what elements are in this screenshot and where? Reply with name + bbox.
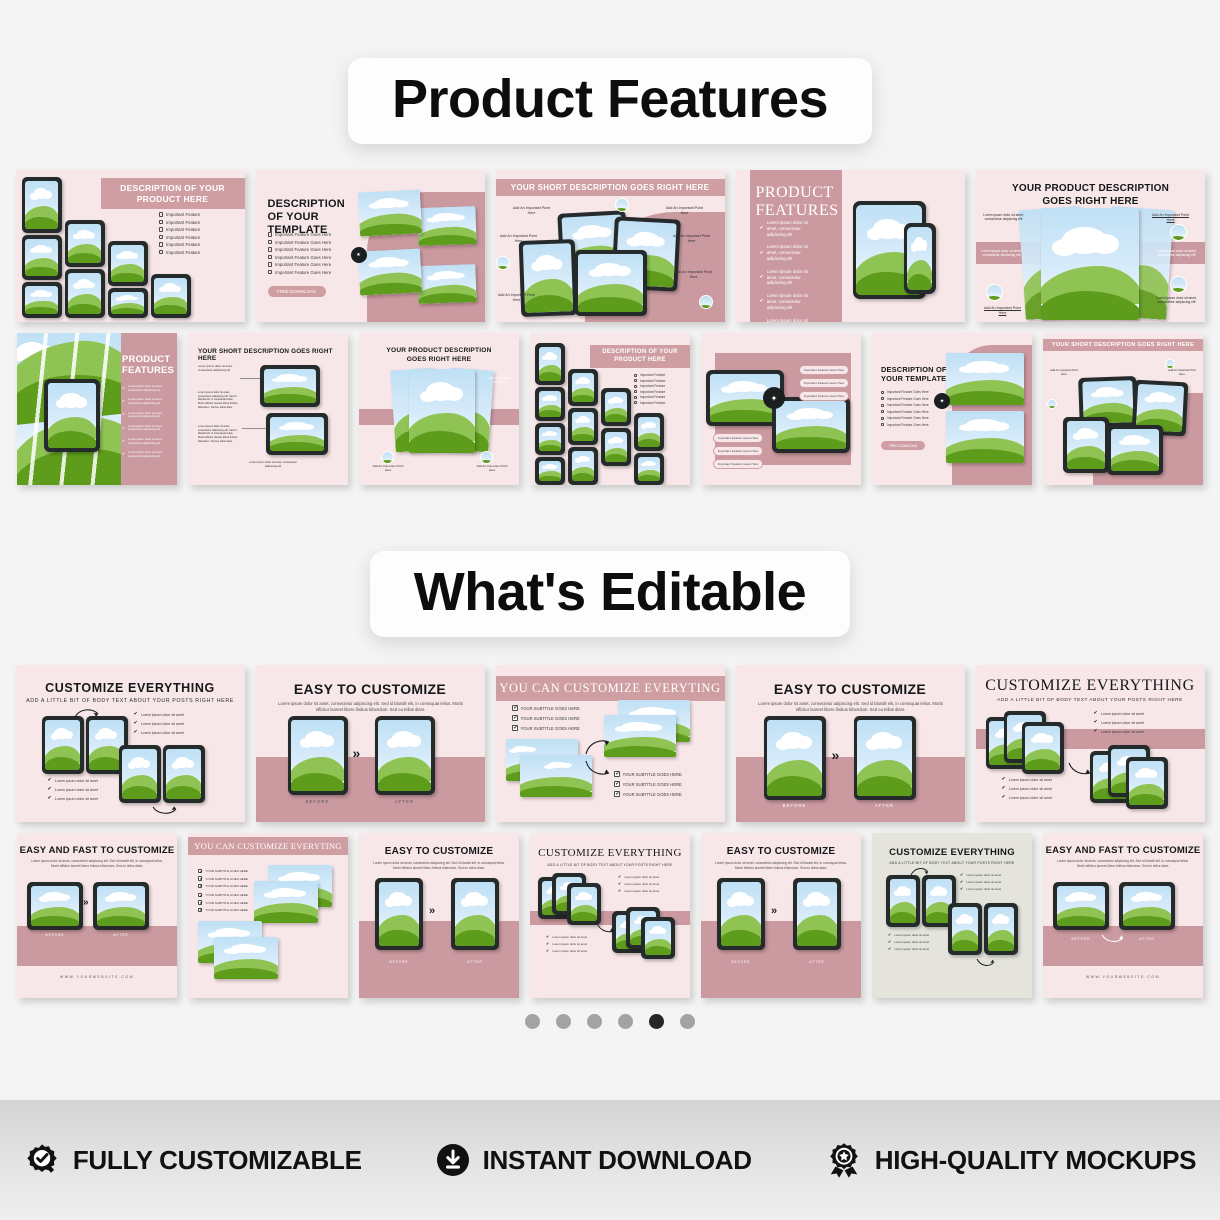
list-item: ✔Lorem ipsum dolor sit amet — [546, 935, 587, 939]
checkbox-icon — [881, 397, 884, 400]
slide-thumbnail[interactable]: EASY AND FAST TO CUSTOMIZE Lorem ipsum d… — [17, 833, 177, 998]
list-item: Important Feature — [634, 379, 665, 383]
before-label: BEFORE — [375, 960, 423, 964]
checkbox-checked-icon: ✔ — [198, 869, 202, 873]
checkbox-icon — [634, 385, 637, 388]
callout-label: Lorem ipsum dolor sit amet, consectetur … — [982, 213, 1026, 222]
list-item: ✔Lorem ipsum dolor sit amet — [1002, 795, 1053, 800]
list-item: ✔YOUR SUBTITLE GOES HERE — [198, 893, 248, 897]
check-icon: ✔ — [122, 400, 125, 403]
list-item: ✔Lorem ipsum dolor sit amet — [888, 940, 929, 944]
curved-arrow-icon — [976, 957, 996, 968]
list-item: ✔Lorem ipsum dolor sit amet, consectetur… — [760, 244, 817, 261]
pagination-dot-1[interactable] — [525, 1014, 540, 1029]
slide-thumbnail[interactable]: YOU CAN CUSTOMIZE EVERYTING ✔YOUR SUBTIT… — [188, 833, 348, 998]
section-title-whats-editable-wrap: What's Editable — [0, 533, 1220, 637]
check-icon: ✔ — [1094, 729, 1098, 734]
slide-heading: CUSTOMIZE EVERYTHING — [530, 847, 690, 859]
curved-arrow-icon — [910, 866, 930, 877]
check-icon: ✔ — [1002, 786, 1006, 791]
callout-label: Add An Important Point Here — [485, 377, 515, 385]
checkbox-icon — [268, 247, 273, 252]
callout-label: Lorem ipsum dolor sit amet, consectetur … — [1155, 296, 1199, 305]
list-item: ✔Lorem ipsum dolor sit amet — [960, 873, 1001, 877]
checkbox-icon — [159, 242, 164, 247]
list-item: Important Feature — [159, 250, 201, 255]
checkbox-checked-icon: ✔ — [512, 725, 518, 731]
after-label: AFTER — [451, 960, 499, 964]
callout-label: Add An Important Point Here — [498, 293, 536, 302]
before-label: BEFORE — [288, 799, 348, 804]
chevron-right-icon: » — [429, 905, 435, 917]
curved-arrow-icon — [596, 921, 616, 935]
check-icon: ✔ — [48, 796, 52, 801]
list-item: ✔Lorem ipsum dolor sit amet — [1002, 777, 1053, 782]
slide-thumbnail[interactable]: EASY TO CUSTOMIZE Lorem ipsum dolor sit … — [736, 665, 965, 822]
checkbox-icon — [268, 270, 273, 275]
slide-heading: EASY TO CUSTOMIZE — [359, 846, 519, 857]
thumbnail-bubble — [1170, 276, 1187, 293]
list-item: Important Feature — [634, 384, 665, 388]
slide-thumbnail[interactable]: YOUR SHORT DESCRIPTION GOES RIGHT HERE A… — [1043, 333, 1203, 485]
slide-heading: EASY AND FAST TO CUSTOMIZE — [1043, 845, 1203, 856]
list-item: ✔YOUR SUBTITLE GOES HERE — [614, 771, 682, 777]
list-item: ✔Lorem ipsum dolor sit amet, consectetur… — [760, 318, 817, 322]
thumbnail-bubble — [615, 198, 629, 212]
tag-pill: Important Feature Goes Here — [799, 365, 849, 375]
callout-label: Add An Important Point Here — [671, 234, 713, 243]
pagination-dots[interactable] — [0, 1014, 1220, 1029]
editable-row-2: EASY AND FAST TO CUSTOMIZE Lorem ipsum d… — [0, 833, 1220, 998]
chevron-right-icon: » — [771, 905, 777, 917]
callout-label: Add An Important Point Here — [663, 206, 707, 215]
list-item: ✔YOUR SUBTITLE GOES HERE — [512, 715, 580, 721]
slide-body-text: Lorem ipsum dolor sit amet, consectetur … — [274, 701, 468, 713]
callout-label: Add An Important Point Here — [510, 206, 554, 215]
list-item: Important Feature Goes Here — [268, 270, 332, 275]
list-item: Important Feature Goes Here — [881, 403, 929, 407]
slide-heading: YOUR SHORT DESCRIPTION GOES RIGHT HERE — [1043, 339, 1203, 351]
checkbox-checked-icon: ✔ — [198, 884, 202, 888]
check-icon: ✔ — [960, 887, 963, 891]
thumbnail-bubble — [381, 451, 394, 464]
slide-thumbnail[interactable]: CUSTOMIZE EVERYTHING ADD A LITTLE BIT OF… — [530, 833, 690, 998]
thumbnail-bubble — [1170, 224, 1187, 241]
callout-label: Lorem ipsum dolor sit amet, consectetur … — [980, 249, 1024, 258]
list-item: Important Feature Goes Here — [268, 240, 332, 245]
slide-heading: YOUR SHORT DESCRIPTION GOES RIGHT HERE — [496, 179, 725, 196]
slide-body-text: Lorem ipsum dolor sit amet, consectetur … — [31, 859, 163, 868]
website-label: WWW.YOURWEBSITE.COM — [1043, 975, 1203, 979]
slide-subheading: ADD A LITTLE BIT OF BODY TEXT ABOUT YOUR… — [872, 861, 1032, 865]
curved-arrow-icon — [1068, 761, 1092, 777]
checkbox-icon — [634, 374, 637, 377]
list-item: ✔Lorem ipsum dolor sit amet, consectetur… — [122, 425, 172, 432]
download-button[interactable]: FREE DOWNLOAD — [881, 441, 925, 450]
slide-body-text: Lorem ipsum dolor sit amet, consectetur … — [1057, 859, 1189, 868]
before-label: BEFORE — [717, 960, 765, 964]
slide-thumbnail[interactable]: CUSTOMIZE EVERYTHING ADD A LITTLE BIT OF… — [872, 833, 1032, 998]
checkbox-icon — [159, 235, 164, 240]
list-item: ✔Lorem ipsum dolor sit amet, consectetur… — [122, 451, 172, 458]
list-item: Important Feature — [634, 401, 665, 405]
slide-thumbnail[interactable]: CUSTOMIZE EVERYTHING ADD A LITTLE BIT OF… — [976, 665, 1205, 822]
check-icon: ✔ — [888, 947, 891, 951]
curved-arrow-icon — [585, 738, 611, 756]
slide-thumbnail[interactable]: EASY TO CUSTOMIZE Lorem ipsum dolor sit … — [256, 665, 485, 822]
checkbox-icon — [159, 212, 164, 217]
list-item: ✔Lorem ipsum dolor sit amet — [618, 882, 659, 886]
callout-label: Lorem ipsum dolor sit amet, consectetur … — [198, 425, 240, 443]
list-item: Important Feature — [634, 390, 665, 394]
check-icon: ✔ — [1094, 720, 1098, 725]
pagination-dot-3[interactable] — [587, 1014, 602, 1029]
list-item: ✔YOUR SUBTITLE GOES HERE — [198, 908, 248, 912]
list-item: ✔YOUR SUBTITLE GOES HERE — [614, 791, 682, 797]
list-item: Important Feature — [159, 227, 201, 232]
footer-label: FULLY CUSTOMIZABLE — [73, 1145, 362, 1176]
checkbox-checked-icon: ✔ — [198, 893, 202, 897]
callout-label: Add An Important Point Here — [498, 234, 540, 243]
list-item: ✔Lorem ipsum dolor sit amet, consectetur… — [122, 398, 172, 405]
list-item: ✔Lorem ipsum dolor sit amet — [134, 730, 185, 735]
list-item: ✔Lorem ipsum dolor sit amet, consectetur… — [760, 220, 817, 237]
tag-pill: Important Feature Goes Here — [713, 433, 763, 443]
footer-bar: FULLY CUSTOMIZABLE INSTANT DOWNLOAD HIGH… — [0, 1100, 1220, 1220]
check-icon: ✔ — [1002, 777, 1006, 782]
slide-thumbnail[interactable]: EASY AND FAST TO CUSTOMIZE Lorem ipsum d… — [1043, 833, 1203, 998]
list-item: ✔YOUR SUBTITLE GOES HERE — [512, 705, 580, 711]
list-item: ✔Lorem ipsum dolor sit amet — [1002, 786, 1053, 791]
curved-arrow-icon — [74, 707, 100, 719]
checkbox-checked-icon: ✔ — [512, 705, 518, 711]
curved-arrow-icon — [152, 805, 178, 817]
checkbox-icon — [268, 262, 273, 267]
tablet-mockup — [288, 716, 348, 795]
check-icon: ✔ — [122, 440, 125, 443]
list-item: Important Feature — [159, 220, 201, 225]
check-icon: ✔ — [134, 721, 138, 726]
slide-thumbnail[interactable]: YOUR PRODUCT DESCRIPTION GOES RIGHT HERE… — [359, 333, 519, 485]
slide-thumbnail[interactable]: Important Feature Goes Here Important Fe… — [701, 333, 861, 485]
checkbox-icon — [159, 250, 164, 255]
chevron-right-icon: » — [83, 897, 89, 908]
slide-thumbnail[interactable]: DESCRIPTION OF YOUR PRODUCT HERE Importa… — [16, 170, 245, 322]
list-item: ✔Lorem ipsum dolor sit amet — [960, 880, 1001, 884]
download-circle-icon — [436, 1143, 470, 1177]
list-item: Important Feature Goes Here — [268, 262, 332, 267]
list-item: ✔YOUR SUBTITLE GOES HERE — [614, 781, 682, 787]
slide-heading: DESCRIPTION OF YOUR PRODUCT HERE — [101, 178, 245, 209]
seal-badge-icon: ★ — [351, 247, 367, 263]
list-item: Important Feature — [634, 373, 665, 377]
check-icon: ✔ — [760, 299, 764, 304]
list-item: Important Feature Goes Here — [268, 232, 332, 237]
slide-thumbnail[interactable]: DESCRIPTION OF YOUR TEMPLATE Important F… — [256, 170, 485, 322]
check-icon: ✔ — [618, 875, 621, 879]
thumbnail-bubble — [986, 284, 1003, 301]
list-item: ✔YOUR SUBTITLE GOES HERE — [198, 884, 248, 888]
slide-heading: CUSTOMIZE EVERYTHING — [16, 681, 245, 695]
check-icon: ✔ — [48, 787, 52, 792]
footer-item-high-quality-mockups: HIGH-QUALITY MOCKUPS — [826, 1142, 1196, 1178]
check-icon: ✔ — [760, 251, 764, 256]
thumbnail-bubble — [1165, 359, 1175, 369]
slide-thumbnail[interactable]: CUSTOMIZE EVERYTHING ADD A LITTLE BIT OF… — [16, 665, 245, 822]
after-label: AFTER — [793, 960, 841, 964]
slide-thumbnail[interactable]: EASY TO CUSTOMIZE Lorem ipsum dolor sit … — [701, 833, 861, 998]
list-item: Important Feature — [159, 242, 201, 247]
tag-pill: Important Feature Goes Here — [713, 459, 763, 469]
check-icon: ✔ — [546, 935, 549, 939]
quality-badge-icon — [826, 1142, 862, 1178]
footer-item-fully-customizable: FULLY CUSTOMIZABLE — [24, 1142, 362, 1178]
checkbox-icon — [881, 410, 884, 413]
gear-check-icon — [24, 1142, 60, 1178]
list-item: ✔YOUR SUBTITLE GOES HERE — [198, 900, 248, 904]
page-title-whats-editable: What's Editable — [370, 551, 850, 637]
tag-pill: Important Feature Goes Here — [799, 391, 849, 401]
slide-heading: YOUR PRODUCT DESCRIPTION GOES RIGHT HERE — [381, 347, 497, 364]
check-icon: ✔ — [888, 940, 891, 944]
checkbox-checked-icon: ✔ — [512, 715, 518, 721]
slide-heading: EASY AND FAST TO CUSTOMIZE — [17, 845, 177, 856]
slide-thumbnail[interactable]: PRODUCT FEATURES ✔Lorem ipsum dolor sit … — [17, 333, 177, 485]
slide-thumbnail[interactable]: YOUR SHORT DESCRIPTION GOES RIGHT HERE A… — [496, 170, 725, 322]
checkbox-icon — [634, 401, 637, 404]
list-item: Important Feature — [159, 235, 201, 240]
callout-label: Add An Important Point Here — [1049, 369, 1079, 376]
check-icon: ✔ — [122, 453, 125, 456]
check-icon: ✔ — [546, 949, 549, 953]
seal-badge-icon: ✦ — [934, 393, 950, 409]
callout-label: Lorem ipsum dolor sit amet, consectetur … — [198, 391, 240, 409]
list-item: ✔Lorem ipsum dolor sit amet — [888, 947, 929, 951]
list-item: ✔Lorem ipsum dolor sit amet, consectetur… — [122, 412, 172, 419]
slide-heading: YOUR PRODUCT DESCRIPTION GOES RIGHT HERE — [1002, 183, 1180, 208]
slide-thumbnail[interactable]: DESCRIPTION OF YOUR PRODUCT HERE Importa… — [530, 333, 690, 485]
callout-label: Add An Important Point Here — [1167, 369, 1197, 376]
check-icon: ✔ — [122, 413, 125, 416]
check-icon: ✔ — [546, 942, 549, 946]
list-item: ✔Lorem ipsum dolor sit amet, consectetur… — [122, 438, 172, 445]
check-icon: ✔ — [618, 889, 621, 893]
check-icon: ✔ — [122, 387, 125, 390]
list-item: ✔YOUR SUBTITLE GOES HERE — [198, 869, 248, 873]
list-item: Important Feature — [159, 212, 201, 217]
callout-label: Add An Important Point Here — [673, 270, 715, 279]
checkbox-icon — [159, 220, 164, 225]
check-icon: ✔ — [618, 882, 621, 886]
tag-pill: Important Feature Goes Here — [799, 378, 849, 388]
checkbox-icon — [881, 423, 884, 426]
checkbox-icon — [634, 390, 637, 393]
thumbnail-bubble — [1047, 399, 1057, 409]
check-icon: ✔ — [134, 712, 138, 717]
after-label: AFTER — [375, 799, 435, 804]
list-item: ✔Lorem ipsum dolor sit amet, consectetur… — [760, 293, 817, 310]
seal-badge-icon: ✦ — [763, 387, 785, 409]
thumbnail-bubble — [496, 256, 510, 270]
pagination-dot-2[interactable] — [556, 1014, 571, 1029]
list-item: ✔Lorem ipsum dolor sit amet, consectetur… — [760, 269, 817, 286]
chevron-right-icon: » — [353, 745, 361, 761]
slide-body-text: Lorem ipsum dolor sit amet, consectetur … — [373, 861, 505, 870]
check-icon: ✔ — [48, 778, 52, 783]
check-icon: ✔ — [134, 730, 138, 735]
list-item: Important Feature Goes Here — [881, 423, 929, 427]
list-item: ✔Lorem ipsum dolor sit amet — [1094, 720, 1145, 725]
list-item: ✔Lorem ipsum dolor sit amet — [134, 721, 185, 726]
list-item: ✔Lorem ipsum dolor sit amet — [1094, 711, 1145, 716]
checkbox-checked-icon: ✔ — [198, 900, 202, 904]
list-item: ✔Lorem ipsum dolor sit amet — [1094, 729, 1145, 734]
checkbox-icon — [268, 240, 273, 245]
tag-pill: Important Feature Goes Here — [713, 446, 763, 456]
list-item: ✔Lorem ipsum dolor sit amet — [546, 949, 587, 953]
list-item: ✔Lorem ipsum dolor sit amet — [960, 887, 1001, 891]
checkbox-icon — [634, 396, 637, 399]
slide-thumbnail[interactable]: DESCRIPTION OF YOUR TEMPLATE Important F… — [872, 333, 1032, 485]
section-title-product-features-wrap: Product Features — [0, 0, 1220, 144]
list-item: ✔Lorem ipsum dolor sit amet — [618, 875, 659, 879]
slide-subheading: ADD A LITTLE BIT OF BODY TEXT ABOUT YOUR… — [16, 698, 245, 704]
tablet-mockup — [375, 716, 435, 795]
slide-heading: PRODUCT FEATURES — [122, 355, 172, 377]
footer-item-instant-download: INSTANT DOWNLOAD — [436, 1143, 752, 1177]
callout-label: Add An Important Point Here — [982, 306, 1024, 315]
list-item: ✔Lorem ipsum dolor sit amet, consectetur… — [122, 385, 172, 392]
list-item: ✔YOUR SUBTITLE GOES HERE — [198, 876, 248, 880]
slide-thumbnail[interactable]: YOU CAN CUSTOMIZE EVERYTING ✔YOUR SUBTIT… — [496, 665, 725, 822]
checkbox-checked-icon: ✔ — [614, 771, 620, 777]
list-item: Important Feature Goes Here — [268, 255, 332, 260]
slide-heading: EASY TO CUSTOMIZE — [701, 846, 861, 857]
checkbox-icon — [159, 227, 164, 232]
list-item: ✔Lorem ipsum dolor sit amet — [134, 712, 185, 717]
check-icon: ✔ — [960, 880, 963, 884]
list-item: ✔Lorem ipsum dolor sit amet — [48, 778, 99, 783]
list-item: Important Feature — [634, 395, 665, 399]
footer-label: INSTANT DOWNLOAD — [483, 1145, 752, 1176]
slide-heading: DESCRIPTION OF YOUR TEMPLATE — [881, 365, 951, 384]
phone-mockup — [904, 223, 936, 294]
chevron-right-icon: » — [832, 747, 840, 763]
list-item: Important Feature Goes Here — [881, 416, 929, 420]
slide-heading: YOU CAN CUSTOMIZE EVERYTING — [496, 676, 725, 701]
callout-label: Add An Important Point Here — [1149, 213, 1193, 222]
after-label: AFTER — [1119, 937, 1175, 941]
callout-label: Lorem ipsum dolor sit amet, consectetur … — [248, 461, 298, 469]
slide-thumbnail[interactable]: YOUR SHORT DESCRIPTION GOES RIGHT HERE L… — [188, 333, 348, 485]
checkbox-icon — [268, 255, 273, 260]
curved-arrow-icon — [1101, 933, 1125, 944]
check-icon: ✔ — [760, 226, 764, 231]
before-label: BEFORE — [764, 803, 826, 808]
slide-heading: YOU CAN CUSTOMIZE EVERYTING — [188, 837, 348, 855]
list-item: ✔Lorem ipsum dolor sit amet — [888, 933, 929, 937]
page-title-product-features: Product Features — [348, 58, 872, 144]
list-item: ✔Lorem ipsum dolor sit amet — [546, 942, 587, 946]
website-label: WWW.YOURWEBSITE.COM — [17, 975, 177, 979]
slide-heading: YOUR SHORT DESCRIPTION GOES RIGHT HERE — [198, 348, 338, 362]
before-label: BEFORE — [27, 933, 83, 937]
slide-subheading: ADD A LITTLE BIT OF BODY TEXT ABOUT YOUR… — [530, 863, 690, 867]
check-icon: ✔ — [122, 427, 125, 430]
checkbox-icon — [634, 379, 637, 382]
callout-label: Lorem ipsum dolor sit amet, consectetur … — [1155, 249, 1199, 258]
checkbox-checked-icon: ✔ — [614, 791, 620, 797]
download-button[interactable]: FREE DOWNLOAD — [268, 286, 326, 297]
list-item: ✔YOUR SUBTITLE GOES HERE — [512, 725, 580, 731]
slide-heading: EASY TO CUSTOMIZE — [736, 681, 965, 697]
callout-label: Lorem ipsum dolor sit amet, consectetur … — [198, 365, 238, 373]
check-icon: ✔ — [960, 873, 963, 877]
after-label: AFTER — [854, 803, 916, 808]
slide-heading: EASY TO CUSTOMIZE — [256, 681, 485, 697]
slide-heading: CUSTOMIZE EVERYTHING — [872, 847, 1032, 858]
features-row-1: DESCRIPTION OF YOUR PRODUCT HERE Importa… — [0, 170, 1220, 322]
checkbox-checked-icon: ✔ — [198, 908, 202, 912]
checkbox-icon — [268, 232, 273, 237]
checkbox-checked-icon: ✔ — [614, 781, 620, 787]
list-item: Important Feature Goes Here — [881, 390, 929, 394]
list-item: Important Feature Goes Here — [881, 397, 929, 401]
list-item: ✔Lorem ipsum dolor sit amet — [618, 889, 659, 893]
list-item: ✔Lorem ipsum dolor sit amet — [48, 796, 99, 801]
tablet-mockup — [772, 397, 850, 453]
curved-arrow-icon — [585, 759, 611, 777]
slide-body-text: Lorem ipsum dolor sit amet, consectetur … — [715, 861, 847, 870]
pagination-dot-5[interactable] — [649, 1014, 664, 1029]
callout-label: Add An Important Point Here — [369, 465, 407, 473]
slide-subheading: ADD A LITTLE BIT OF BODY TEXT ABOUT YOUR… — [976, 698, 1205, 703]
tablet-mockup — [44, 379, 100, 452]
footer-label: HIGH-QUALITY MOCKUPS — [875, 1145, 1196, 1176]
slide-heading: PRODUCT FEATURES — [756, 184, 838, 221]
slide-thumbnail[interactable]: PRODUCT FEATURES ✔Lorem ipsum dolor sit … — [736, 170, 965, 322]
check-icon: ✔ — [1002, 795, 1006, 800]
slide-thumbnail[interactable]: YOUR PRODUCT DESCRIPTION GOES RIGHT HERE… — [976, 170, 1205, 322]
thumbnail-bubble — [480, 451, 493, 464]
checkbox-icon — [881, 391, 884, 394]
editable-row-1: CUSTOMIZE EVERYTHING ADD A LITTLE BIT OF… — [0, 665, 1220, 822]
slide-thumbnail[interactable]: EASY TO CUSTOMIZE Lorem ipsum dolor sit … — [359, 833, 519, 998]
list-item: Important Feature Goes Here — [268, 247, 332, 252]
slide-body-text: Lorem ipsum dolor sit amet, consectetur … — [754, 701, 948, 713]
checkbox-checked-icon: ✔ — [198, 876, 202, 880]
slide-heading: DESCRIPTION OF YOUR PRODUCT HERE — [590, 345, 690, 368]
pagination-dot-4[interactable] — [618, 1014, 633, 1029]
features-row-2: PRODUCT FEATURES ✔Lorem ipsum dolor sit … — [0, 333, 1220, 485]
list-item: ✔Lorem ipsum dolor sit amet — [48, 787, 99, 792]
thumbnail-bubble — [699, 295, 713, 309]
checkbox-icon — [881, 404, 884, 407]
check-icon: ✔ — [760, 275, 764, 280]
slide-heading: CUSTOMIZE EVERYTHING — [976, 677, 1205, 695]
list-item: Important Feature Goes Here — [881, 410, 929, 414]
after-label: AFTER — [93, 933, 149, 937]
checkbox-icon — [881, 417, 884, 420]
check-icon: ✔ — [1094, 711, 1098, 716]
pagination-dot-6[interactable] — [680, 1014, 695, 1029]
check-icon: ✔ — [888, 933, 891, 937]
callout-label: Add An Important Point Here — [473, 465, 511, 473]
